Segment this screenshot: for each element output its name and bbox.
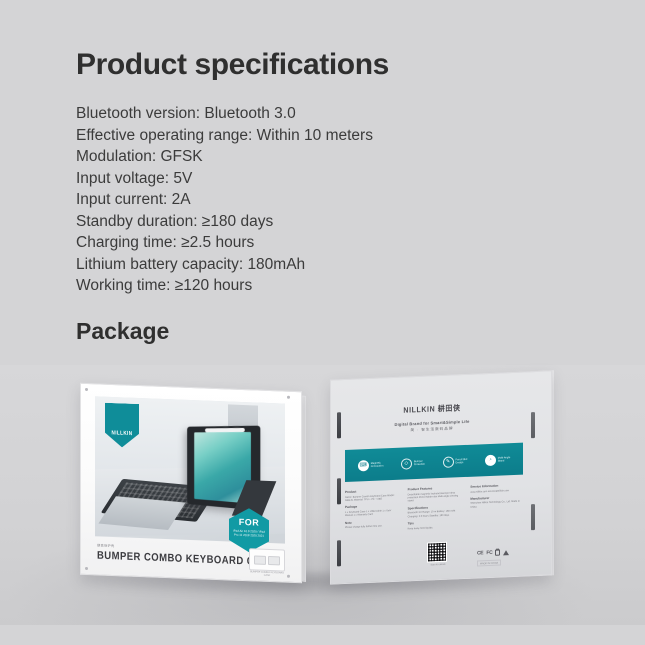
box-tab-slot-3	[337, 540, 341, 566]
spec-item-bluetooth-version: Bluetooth version: Bluetooth 3.0	[76, 103, 576, 125]
badge-models: iPad Air 10.9 2020 / iPad Pro 11 2018 20…	[229, 528, 269, 538]
back-package-box: BUMPER COMBO KEYBOARD CASE NILLKIN 耕田侠 D…	[330, 370, 552, 584]
spec-item-modulation: Modulation: GFSK	[76, 146, 576, 168]
feature-caption-3: Pencil Slot Design	[456, 457, 468, 464]
front-box-brand: NILLKIN	[112, 429, 133, 436]
col3-section1-body: www.nillkin.com service@nillkin.com	[470, 488, 525, 494]
spec-column-2: Product Features Detachable magnetic key…	[408, 485, 463, 533]
col1-section3-body: Please charge fully before first use.	[345, 524, 400, 530]
spec-item-operating-range: Effective operating range: Within 10 met…	[76, 125, 576, 147]
spec-item-input-current: Input current: 2A	[76, 189, 576, 211]
front-package-box: NILLKIN FOR iPad Air 10.9 2020 / iPad Pr…	[80, 383, 302, 584]
package-section: Package	[76, 318, 596, 345]
back-box-spec-columns: Product Name: Bumper Combo Keyboard Case…	[345, 482, 525, 535]
spec-item-battery-capacity: Lithium battery capacity: 180mAh	[76, 254, 576, 276]
pen-slot-icon: ✎	[443, 456, 454, 467]
spec-column-1: Product Name: Bumper Combo Keyboard Case…	[345, 488, 400, 536]
thumbnail-shape-left	[254, 555, 266, 564]
shield-icon: ◇	[401, 458, 412, 469]
specifications-section: Product specifications Bluetooth version…	[76, 48, 576, 297]
variant-thumbnail	[249, 548, 285, 571]
spec-item-input-voltage: Input voltage: 5V	[76, 168, 576, 190]
weee-bin-icon	[495, 550, 500, 556]
recycle-triangle-icon	[503, 550, 509, 555]
front-box-subtitle: 键盘保护壳	[97, 542, 114, 548]
fcc-mark-icon: FC	[486, 550, 492, 556]
front-box-face: NILLKIN FOR iPad Air 10.9 2020 / iPad Pr…	[80, 383, 302, 584]
corner-mark-tr	[287, 396, 290, 399]
corner-mark-bl	[85, 567, 88, 570]
spec-item-working-time: Working time: ≥120 hours	[76, 275, 576, 297]
feature-line-1b: Connection	[371, 464, 384, 468]
product-spec-page: Product specifications Bluetooth version…	[0, 0, 645, 645]
box-tab-slot-5	[531, 504, 535, 530]
feature-caption-2: Bumper Protection	[414, 459, 425, 466]
feature-line-2b: Protection	[414, 463, 425, 467]
back-box-brand: NILLKIN 耕田侠	[331, 400, 533, 419]
corner-mark-br	[287, 575, 290, 578]
col2-section1-body: Detachable magnetic keyboard Bumper drop…	[408, 491, 463, 504]
ce-mark-icon: CE	[477, 550, 483, 556]
feature-item-1: ⌨ Magnetic Connection	[358, 459, 384, 471]
badge-label: FOR	[229, 516, 269, 528]
package-product-image: NILLKIN FOR iPad Air 10.9 2020 / iPad Pr…	[0, 365, 645, 625]
box-tab-slot-2	[337, 478, 341, 504]
col3-section2-body: Shenzhen Nillkin Technology Co., Ltd. Ma…	[470, 500, 525, 509]
feature-item-3: ✎ Pencil Slot Design	[443, 455, 468, 467]
specification-list: Bluetooth version: Bluetooth 3.0 Effecti…	[76, 103, 576, 297]
page-title: Product specifications	[76, 48, 576, 81]
feature-caption-1: Magnetic Connection	[371, 461, 384, 468]
col1-section2-body: 1 x Keyboard Case 1 x USB Cable 1 x User…	[345, 509, 400, 518]
feature-item-4: ◔ Multi-Angle Stand	[485, 454, 511, 466]
keyboard-icon: ⌨	[358, 460, 369, 471]
back-box-face: NILLKIN 耕田侠 Digital Brand for Smart&Simp…	[330, 370, 552, 584]
qr-code	[427, 542, 447, 563]
feature-item-2: ◇ Bumper Protection	[401, 457, 425, 469]
spec-item-standby-duration: Standby duration: ≥180 days	[76, 211, 576, 233]
feature-line-4b: Stand	[498, 459, 511, 463]
spec-column-3: Service Information www.nillkin.com serv…	[470, 482, 525, 530]
col1-section1-body: Name: Bumper Combo Keyboard Case Model: …	[345, 493, 400, 502]
spec-item-charging-time: Charging time: ≥2.5 hours	[76, 232, 576, 254]
feature-line-3b: Design	[456, 461, 468, 465]
certification-marks: CE FC	[477, 549, 509, 556]
qr-code-caption: Scan for details	[423, 563, 453, 566]
variant-thumbnail-caption: BUMPER COMBO KEYBOARD CASE	[249, 570, 285, 578]
feature-strip: ⌨ Magnetic Connection ◇ Bumper Protectio…	[345, 443, 523, 482]
corner-mark-tl	[85, 388, 88, 391]
package-title: Package	[76, 318, 596, 345]
stand-icon: ◔	[485, 454, 496, 465]
feature-caption-4: Multi-Angle Stand	[498, 456, 511, 463]
batch-label: MADE IN CHINA	[477, 559, 501, 566]
col2-section3-body: Keep away from liquids.	[408, 525, 463, 531]
col2-section2-body: Bluetooth 3.0 Range: 10 m Battery: 180 m…	[408, 509, 463, 518]
thumbnail-shape-right	[268, 555, 280, 564]
